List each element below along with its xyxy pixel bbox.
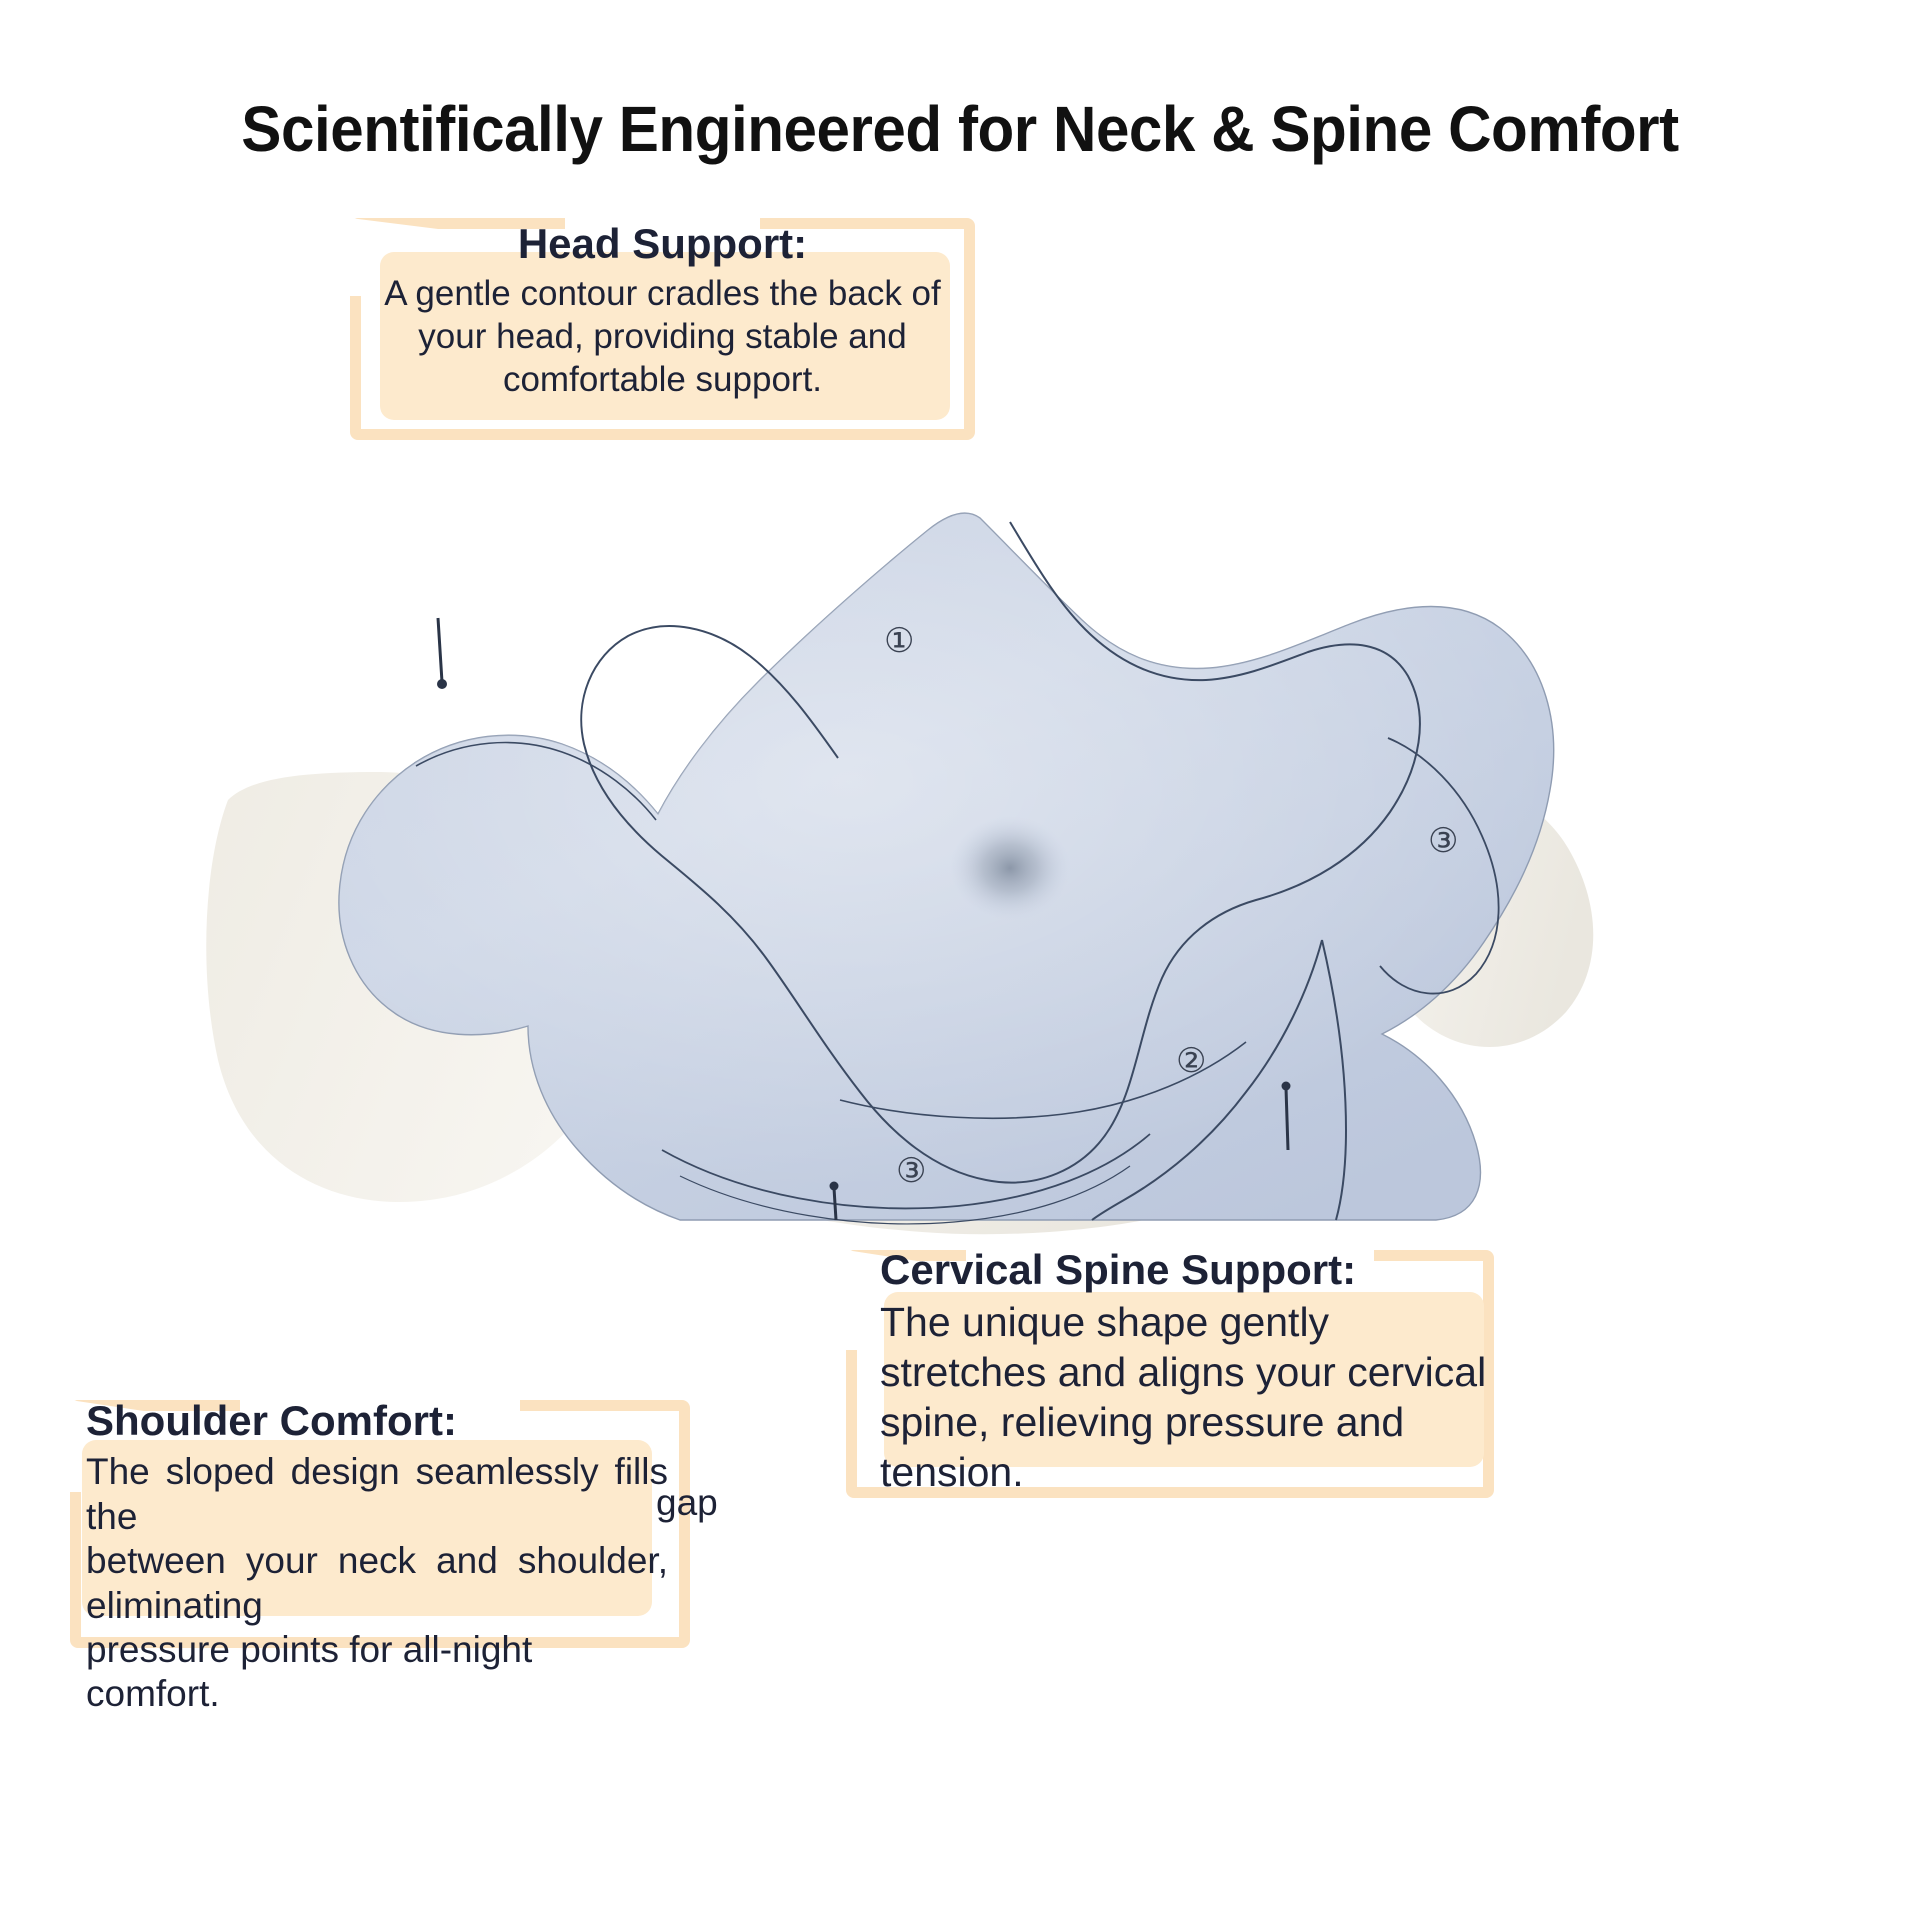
callout-body: A gentle contour cradles the back of you… xyxy=(360,273,965,401)
callout-body-line-2: between your neck and shoulder, eliminat… xyxy=(86,1539,668,1628)
zone-marker-2: ② xyxy=(1176,1044,1206,1078)
callout-heading: Cervical Spine Support: xyxy=(880,1244,1496,1295)
page-title: Scientifically Engineered for Neck & Spi… xyxy=(58,92,1863,166)
callout-cervical-spine-support: Cervical Spine Support: The unique shape… xyxy=(846,1250,1494,1498)
pin-marker-left xyxy=(437,618,447,689)
callout-body: The unique shape gently stretches and al… xyxy=(880,1297,1496,1497)
callout-body-line-3: pressure points for all-night comfort. xyxy=(86,1628,668,1717)
zone-marker-1: ① xyxy=(884,624,914,658)
pillow-center-dimple xyxy=(950,816,1070,920)
zone-marker-3-front: ③ xyxy=(896,1154,926,1188)
callout-body-line-1-tail: gap xyxy=(656,1482,718,1524)
callout-head-support-text: Head Support: A gentle contour cradles t… xyxy=(360,218,965,401)
callout-heading: Shoulder Comfort: xyxy=(86,1396,668,1446)
product-image xyxy=(210,500,1690,1220)
callout-shoulder-comfort: Shoulder Comfort: The sloped design seam… xyxy=(70,1400,690,1648)
callout-cervical-spine-support-text: Cervical Spine Support: The unique shape… xyxy=(880,1244,1496,1497)
callout-body-line-1: The sloped design seamlessly fills the xyxy=(86,1450,668,1539)
callout-head-support: Head Support: A gentle contour cradles t… xyxy=(350,218,975,440)
callout-heading: Head Support: xyxy=(360,218,965,269)
callout-shoulder-comfort-text: Shoulder Comfort: The sloped design seam… xyxy=(86,1396,668,1717)
infographic-canvas: Scientifically Engineered for Neck & Spi… xyxy=(0,0,1920,1920)
pillow-illustration xyxy=(210,500,1690,1220)
zone-marker-3-right: ③ xyxy=(1428,824,1458,858)
callout-body: The sloped design seamlessly fills the b… xyxy=(86,1450,668,1716)
